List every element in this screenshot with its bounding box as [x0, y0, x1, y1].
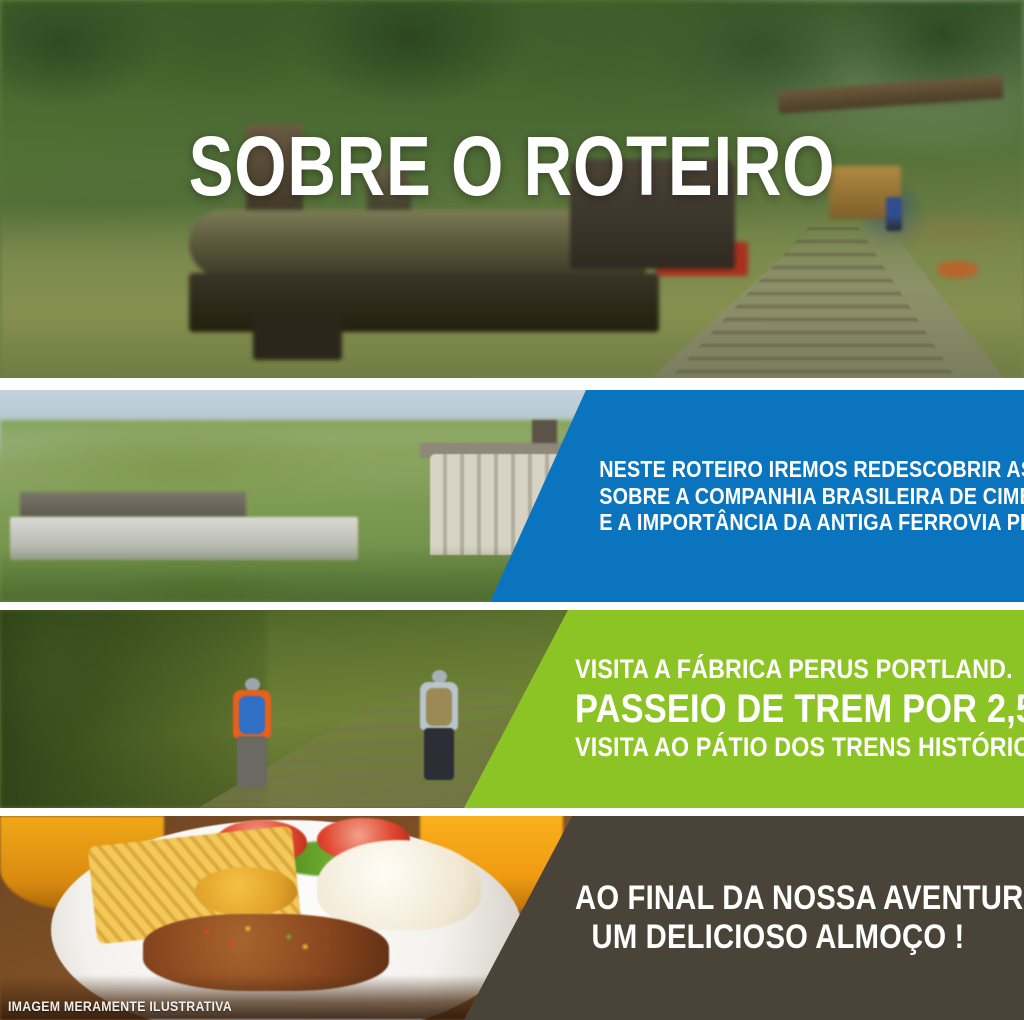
intro-section: NESTE ROTEIRO IREMOS REDESCOBRIR AS HIST…	[0, 390, 1024, 602]
lunch-text-block: AO FINAL DA NOSSA AVENTURA UM DELICIOSO …	[464, 879, 1024, 958]
itinerary-text-block: VISITA A FÁBRICA PERUS PORTLAND. PASSEIO…	[464, 654, 1024, 763]
itinerary-line-1: VISITA A FÁBRICA PERUS PORTLAND.	[575, 654, 981, 685]
pepper-salsa-topping	[174, 922, 338, 955]
hiker-backpack	[239, 696, 265, 734]
croquette	[195, 867, 297, 916]
hiker-figure-center	[410, 670, 468, 796]
intro-line-2: SOBRE A COMPANHIA BRASILEIRA DE CIMENTO …	[599, 483, 983, 510]
hiker-backpack	[426, 688, 452, 726]
intro-line-1: NESTE ROTEIRO IREMOS REDESCOBRIR AS HIST…	[599, 456, 983, 483]
page-title: SOBRE O ROTEIRO	[102, 124, 921, 208]
illustrative-image-disclaimer: IMAGEM MERAMENTE ILUSTRATIVA	[8, 998, 232, 1014]
itinerary-line-3: VISITA AO PÁTIO DOS TRENS HISTÓRICOS.	[575, 732, 981, 763]
intro-line-3: E A IMPORTÂNCIA DA ANTIGA FERROVIA PERUS…	[599, 509, 983, 536]
locomotive-wheel-assembly	[253, 312, 342, 359]
rice-portion	[317, 840, 481, 930]
lunch-line-1: AO FINAL DA NOSSA AVENTURA	[575, 879, 981, 918]
lunch-section: IMAGEM MERAMENTE ILUSTRATIVA AO FINAL DA…	[0, 816, 1024, 1020]
hiker-figure-left	[225, 678, 279, 796]
intro-text-block: NESTE ROTEIRO IREMOS REDESCOBRIR AS HIST…	[490, 456, 1024, 536]
itinerary-line-2: PASSEIO DE TREM POR 2,5KM	[575, 686, 981, 732]
hero-dog-figure	[937, 261, 978, 278]
lunch-line-2: UM DELICIOSO ALMOÇO !	[575, 918, 981, 957]
hero-section: SOBRE O ROTEIRO	[0, 0, 1024, 378]
itinerary-section: VISITA A FÁBRICA PERUS PORTLAND. PASSEIO…	[0, 610, 1024, 808]
hiker-legs	[237, 736, 267, 788]
factory-left-ruins	[20, 492, 245, 517]
hiker-legs	[424, 728, 454, 780]
poster-root: SOBRE O ROTEIRO NESTE ROTEIRO IREMOS RED…	[0, 0, 1024, 1020]
